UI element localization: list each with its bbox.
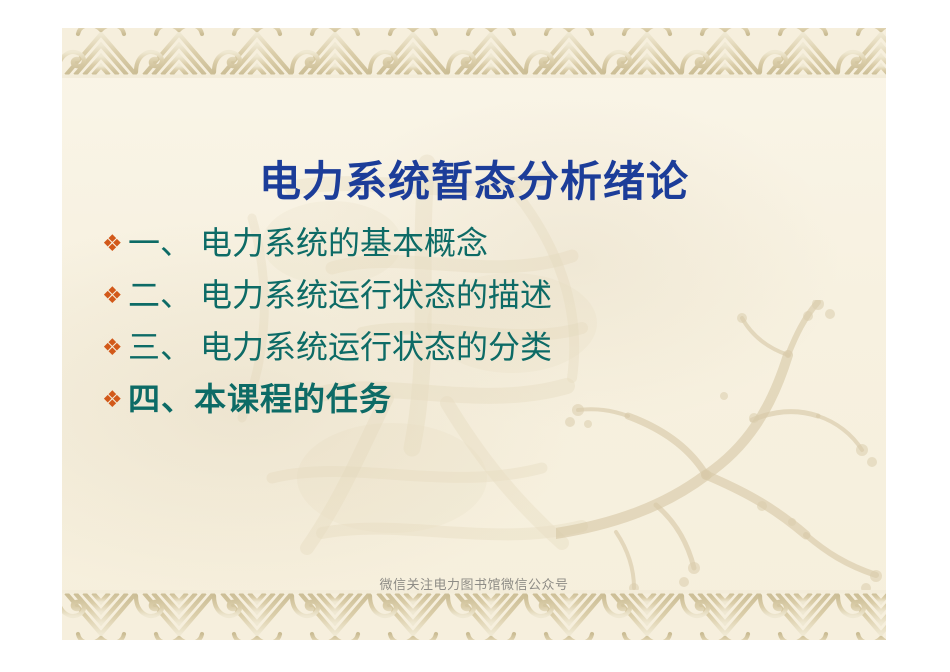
ornament-border-top (62, 28, 886, 78)
bullet-list: ❖ 一、 电力系统的基本概念 ❖ 二、 电力系统运行状态的描述 ❖ 三、 电力系… (102, 226, 856, 434)
slide: 电力系统暂态分析绪论 ❖ 一、 电力系统的基本概念 ❖ 二、 电力系统运行状态的… (62, 28, 886, 640)
list-item: ❖ 二、 电力系统运行状态的描述 (102, 278, 856, 330)
list-item-label: 四、本课程的任务 (128, 382, 392, 417)
diamond-bullet-icon: ❖ (102, 285, 128, 308)
page-canvas: 电力系统暂态分析绪论 ❖ 一、 电力系统的基本概念 ❖ 二、 电力系统运行状态的… (0, 0, 950, 672)
slide-title: 电力系统暂态分析绪论 (62, 160, 886, 206)
footer-watermark-text: 微信关注电力图书馆微信公众号 (62, 574, 886, 593)
list-item: ❖ 三、 电力系统运行状态的分类 (102, 330, 856, 382)
diamond-bullet-icon: ❖ (102, 337, 128, 360)
list-item-label: 三、 电力系统运行状态的分类 (128, 330, 552, 365)
diamond-bullet-icon: ❖ (102, 389, 128, 412)
list-item: ❖ 四、本课程的任务 (102, 382, 856, 434)
ornament-border-bottom (62, 590, 886, 640)
list-item: ❖ 一、 电力系统的基本概念 (102, 226, 856, 278)
diamond-bullet-icon: ❖ (102, 233, 128, 256)
list-item-label: 二、 电力系统运行状态的描述 (128, 278, 552, 313)
list-item-label: 一、 电力系统的基本概念 (128, 226, 488, 261)
